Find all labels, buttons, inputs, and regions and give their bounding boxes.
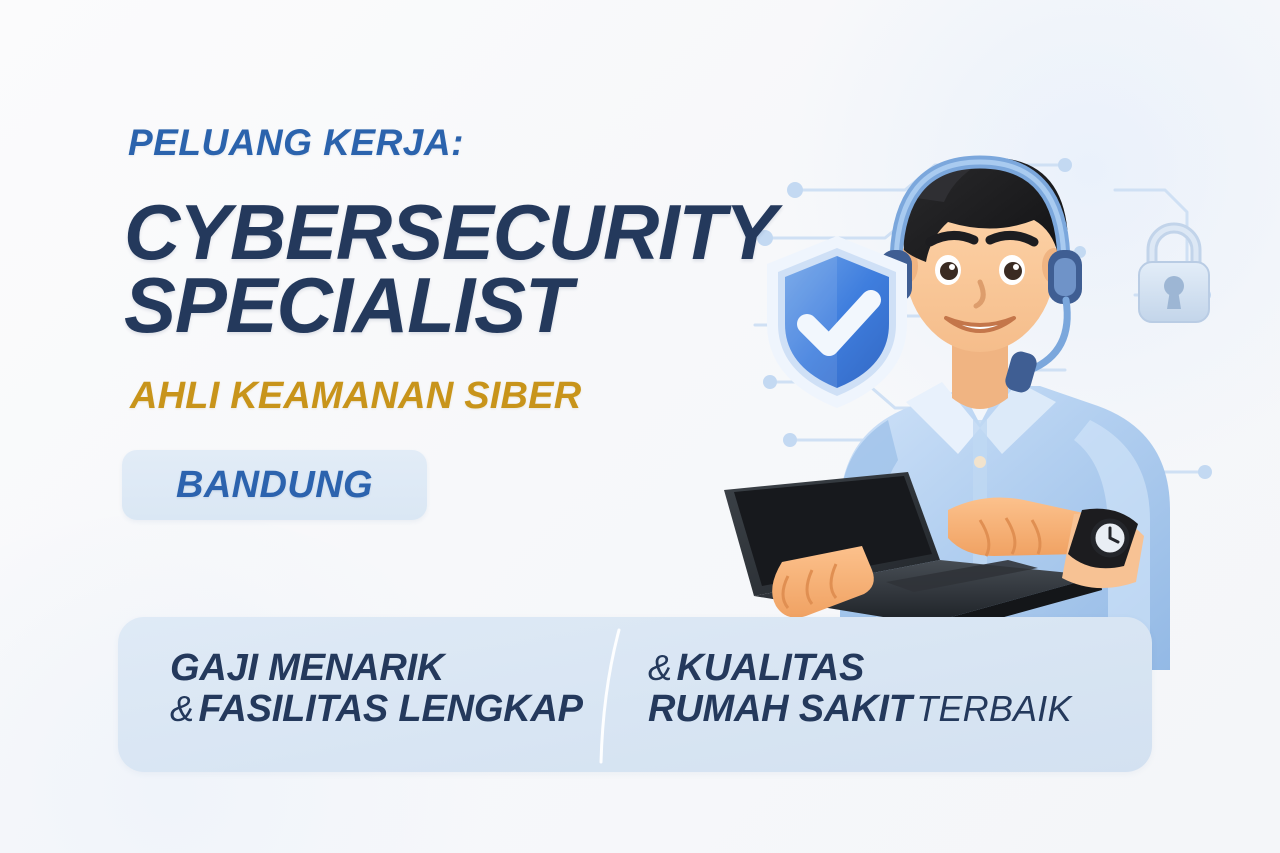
benefit-right-line-1: & KUALITAS xyxy=(648,648,1072,689)
benefit-left-strong: GAJI MENARIK xyxy=(170,647,444,689)
benefit-right-strong-1: KUALITAS xyxy=(676,647,864,689)
benefit-left-line-2: & FASILITAS LENGKAP xyxy=(170,689,583,730)
benefit-right-strong-2: RUMAH SAKIT xyxy=(648,688,912,730)
subtitle-text: AHLI KEAMANAN SIBER xyxy=(130,375,581,418)
benefit-left-ampersand: & xyxy=(170,688,194,729)
benefit-left-strong-2: FASILITAS LENGKAP xyxy=(198,688,582,730)
job-ad-poster: PELUANG KERJA: CYBERSECURITY SPECIALIST … xyxy=(0,0,1280,853)
title-line-2: SPECIALIST xyxy=(124,269,776,342)
benefit-right-light: TERBAIK xyxy=(916,688,1071,729)
eyebrow-text: PELUANG KERJA: xyxy=(128,122,464,164)
benefit-right-ampersand: & xyxy=(648,647,672,688)
location-label: BANDUNG xyxy=(122,450,427,520)
benefits-divider xyxy=(597,628,627,764)
shield-check-icon xyxy=(757,232,917,412)
benefit-left-line-1: GAJI MENARIK xyxy=(170,648,583,689)
location-badge: BANDUNG xyxy=(122,450,427,520)
benefit-right: & KUALITAS RUMAH SAKIT TERBAIK xyxy=(648,648,1072,730)
page-title: CYBERSECURITY SPECIALIST xyxy=(124,196,776,343)
benefit-left: GAJI MENARIK & FASILITAS LENGKAP xyxy=(170,648,583,730)
benefit-right-line-2: RUMAH SAKIT TERBAIK xyxy=(648,689,1072,730)
